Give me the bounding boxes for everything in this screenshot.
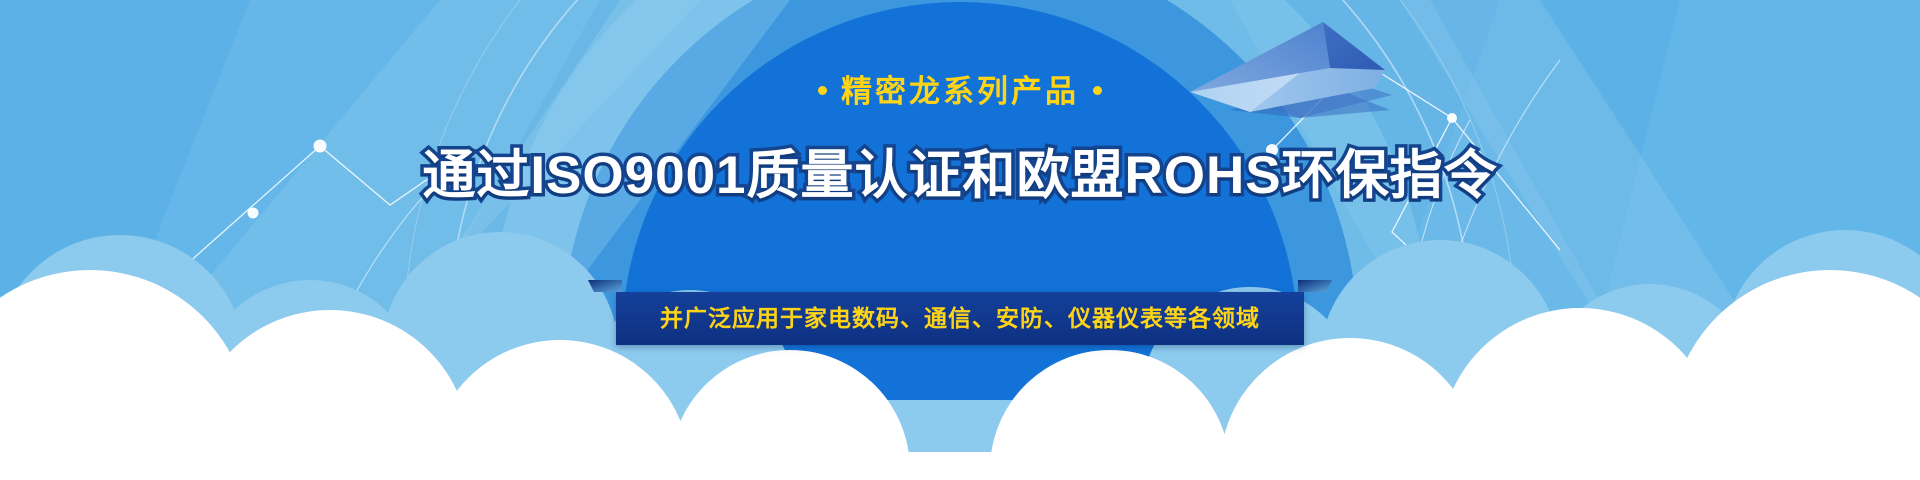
banner-ribbon: 并广泛应用于家电数码、通信、安防、仪器仪表等各领域 bbox=[616, 292, 1304, 345]
ribbon-tail-left-icon bbox=[588, 280, 622, 292]
ribbon-body: 并广泛应用于家电数码、通信、安防、仪器仪表等各领域 bbox=[616, 292, 1304, 345]
ribbon-tail-right-icon bbox=[1298, 280, 1332, 292]
ribbon-text: 并广泛应用于家电数码、通信、安防、仪器仪表等各领域 bbox=[660, 306, 1260, 331]
cloud-layer bbox=[0, 0, 1920, 480]
promo-banner: 精密龙系列产品 通过ISO9001质量认证和欧盟ROHS环保指令 并广泛应用于家… bbox=[0, 0, 1920, 480]
clouds-svg bbox=[0, 0, 1920, 480]
